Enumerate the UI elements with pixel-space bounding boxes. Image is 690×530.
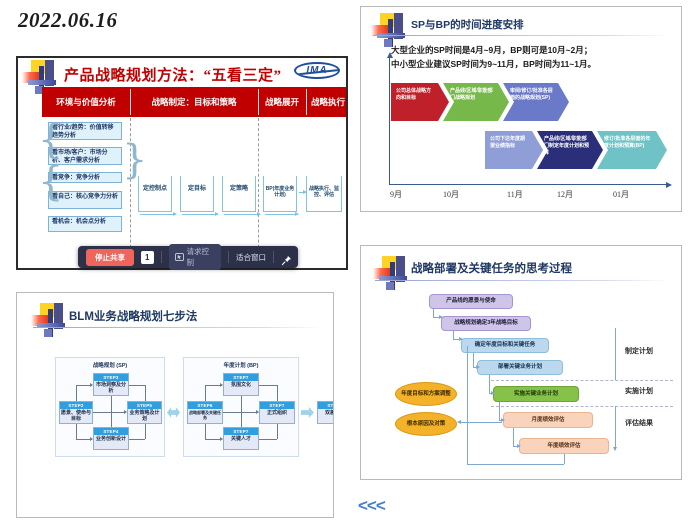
slide-gallery-page: 2022.06.16 产品战略规划方法：“五看三定” IMA 环境与价值分析 战… [0,0,690,530]
timeline-tick-2: 11月 [507,189,523,200]
slide-logo-icon [373,256,413,290]
slide1-col-3: 战略执行 [306,87,348,117]
title-underline [375,280,669,281]
left-brace-icon-2: { [38,162,63,202]
pin-icon[interactable] [281,253,290,261]
step-number: STEP4 [94,428,128,435]
slide2-title: SP与BP的时间进度安排 [411,17,524,32]
bp-step-2: 修订/批准各层面的年度计划和预算(BP) [597,131,667,169]
three-set-item-1: 定目标 [180,176,214,212]
slide1-header-band: 环境与价值分析 战略制定：目标和策略 战略展开 战略执行 [42,87,346,117]
step-label: 愿景、使命与目标 [60,409,92,424]
blm-bp-step-2[interactable]: STEP7 正式组织 [259,401,295,424]
toolbar-divider-1 [161,251,162,263]
step-number: STEP5 [128,402,161,409]
prev-page-button[interactable]: <<< [358,496,385,516]
blm-bp-panel-title: 年度计划 (BP) [184,361,298,369]
step-label: 双差分析 [318,409,334,417]
blm-sp-step-1[interactable]: STEP2 愿景、使命与目标 [59,401,93,424]
title-underline [373,35,671,36]
sp-step-1: 产品线/区域/职能部门战略规划 [443,83,509,121]
blm-forward-arrow-icon [301,407,314,418]
phase-label-2: 评估结果 [625,418,653,428]
blm-sp-panel-title: 战略规划 (SP) [56,361,164,369]
timeline-tick-0: 9月 [390,189,402,200]
step-number: STEP7 [224,374,258,381]
cursor-control-icon [175,253,184,261]
slide-strategy-deployment-process[interactable]: 战略部署及关键任务的思考过程 产品线的愿景与使命 战略规划确定3年战略目标 确定… [360,245,682,480]
slide1-title: 产品战略规划方法：“五看三定” [64,64,282,85]
slide2-lead-line-1: 大型企业的SP时间是4月~9月，BP则可是10月~2月； [391,43,671,57]
step-label: 正式组织 [260,409,294,417]
blm-sp-step-0[interactable]: STEP3 市场洞察及分析 [93,373,129,396]
ima-brand-logo: IMA [294,62,340,79]
step-label: 业务策略及计划 [128,409,161,424]
step-number: STEP6 [188,402,222,409]
step-label: 战略部署及关键任务 [188,409,222,421]
rootcause-ellipse: 根本原因及对策 [395,412,457,436]
step-number: STEP1 [318,402,334,409]
slide-logo-icon [31,303,71,337]
timeline-x-axis [389,184,667,185]
stop-share-button[interactable]: 停止共享 [86,249,134,266]
blm-final-step[interactable]: STEP1 双差分析 [317,401,334,424]
bp-step-1: 产品线/区域/职能部门制定年度计划和预算 [537,131,603,169]
process-node-5: 月度绩效评估 [503,412,593,428]
step-number: STEP2 [60,402,92,409]
slide1-col-1: 战略制定：目标和策略 [130,87,258,117]
slide-blm-seven-steps[interactable]: BLM业务战略规划七步法 战略规划 (SP) STEP3 市场洞察及分析 STE… [16,292,334,518]
screen-share-toolbar[interactable]: 停止共享 1 请求控制 适合窗口 [78,246,298,268]
slide4-title: 战略部署及关键任务的思考过程 [411,260,572,276]
five-look-item-4: 看机会：机会点分析 [48,216,122,232]
step-number: STEP7 [260,402,294,409]
process-node-0: 产品线的愿景与使命 [429,294,513,309]
fit-window-button[interactable]: 适合窗口 [236,252,266,263]
process-node-6: 年度绩效评估 [519,438,609,454]
blm-sp-step-3[interactable]: STEP4 业务创新设计 [93,427,129,450]
step-number: STEP7 [224,428,258,435]
slide-sp-bp-timeline[interactable]: SP与BP的时间进度安排 大型企业的SP时间是4月~9月，BP则可是10月~2月… [360,6,682,212]
slide2-lead-line-2: 中小型企业建议SP时间为9~11月，BP时间为11~1月。 [391,57,671,71]
title-underline [33,327,321,328]
blm-bp-step-3[interactable]: STEP7 关键人才 [223,427,259,450]
bp-step-0: 公司下达年度期望业绩指标 [485,131,543,169]
right-brace-icon: } [122,140,147,180]
toolbar-divider-3 [273,251,274,263]
step-label: 关键人才 [224,435,258,443]
three-set-item-0: 定控制点 [138,176,172,212]
step-label: 业务创新设计 [94,435,128,443]
blm-bp-step-1[interactable]: STEP6 战略部署及关键任务 [187,401,223,424]
slide2-lead-text: 大型企业的SP时间是4月~9月，BP则可是10月~2月； 中小型企业建议SP时间… [391,43,671,71]
request-control-button[interactable]: 请求控制 [169,244,222,270]
process-node-1: 战略规划确定3年战略目标 [441,316,531,331]
phase-label-1: 实施计划 [625,386,653,396]
request-control-label: 请求控制 [187,246,216,268]
sp-step-2: 审阅/修订/批准各层面的战略规划(SP) [503,83,569,121]
blm-bp-step-0[interactable]: STEP7 氛围文化 [223,373,259,396]
left-brace-icon: { [38,120,63,160]
toolbar-divider-2 [228,251,229,263]
deploy-box: BP(年度业务计划) [263,176,297,212]
participant-count-badge[interactable]: 1 [141,251,154,264]
blm-bidirectional-arrow-icon [167,407,180,418]
process-node-3: 部署关键业务计划 [477,360,563,375]
timeline-y-axis [389,57,390,185]
date-heading: 2022.06.16 [18,8,118,33]
execute-box: 战略执行、监控、评估 [306,176,342,212]
timeline-tick-4: 01月 [613,189,629,200]
slide1-col-0: 环境与价值分析 [42,87,130,117]
blm-sp-step-2[interactable]: STEP5 业务策略及计划 [127,401,162,424]
three-set-item-2: 定策略 [222,176,256,212]
timeline-tick-3: 12月 [557,189,573,200]
sp-step-0: 公司总体战略方向和目标 [391,83,449,121]
slide1-col-2: 战略展开 [258,87,306,117]
step-number: STEP3 [94,374,128,381]
phase-label-0: 制定计划 [625,346,653,356]
step-label: 氛围文化 [224,381,258,389]
slide-logo-icon [371,13,411,47]
slide-product-strategy-method[interactable]: 产品战略规划方法：“五看三定” IMA 环境与价值分析 战略制定：目标和策略 战… [16,56,348,270]
step-label: 市场洞察及分析 [94,381,128,396]
process-node-4: 实施关键业务计划 [493,386,579,402]
timeline-tick-1: 10月 [443,189,459,200]
process-node-2: 确定年度目标和关键任务 [461,338,549,353]
adjust-ellipse: 年度目标和方案调整 [395,382,457,406]
slide3-title: BLM业务战略规划七步法 [69,308,197,324]
